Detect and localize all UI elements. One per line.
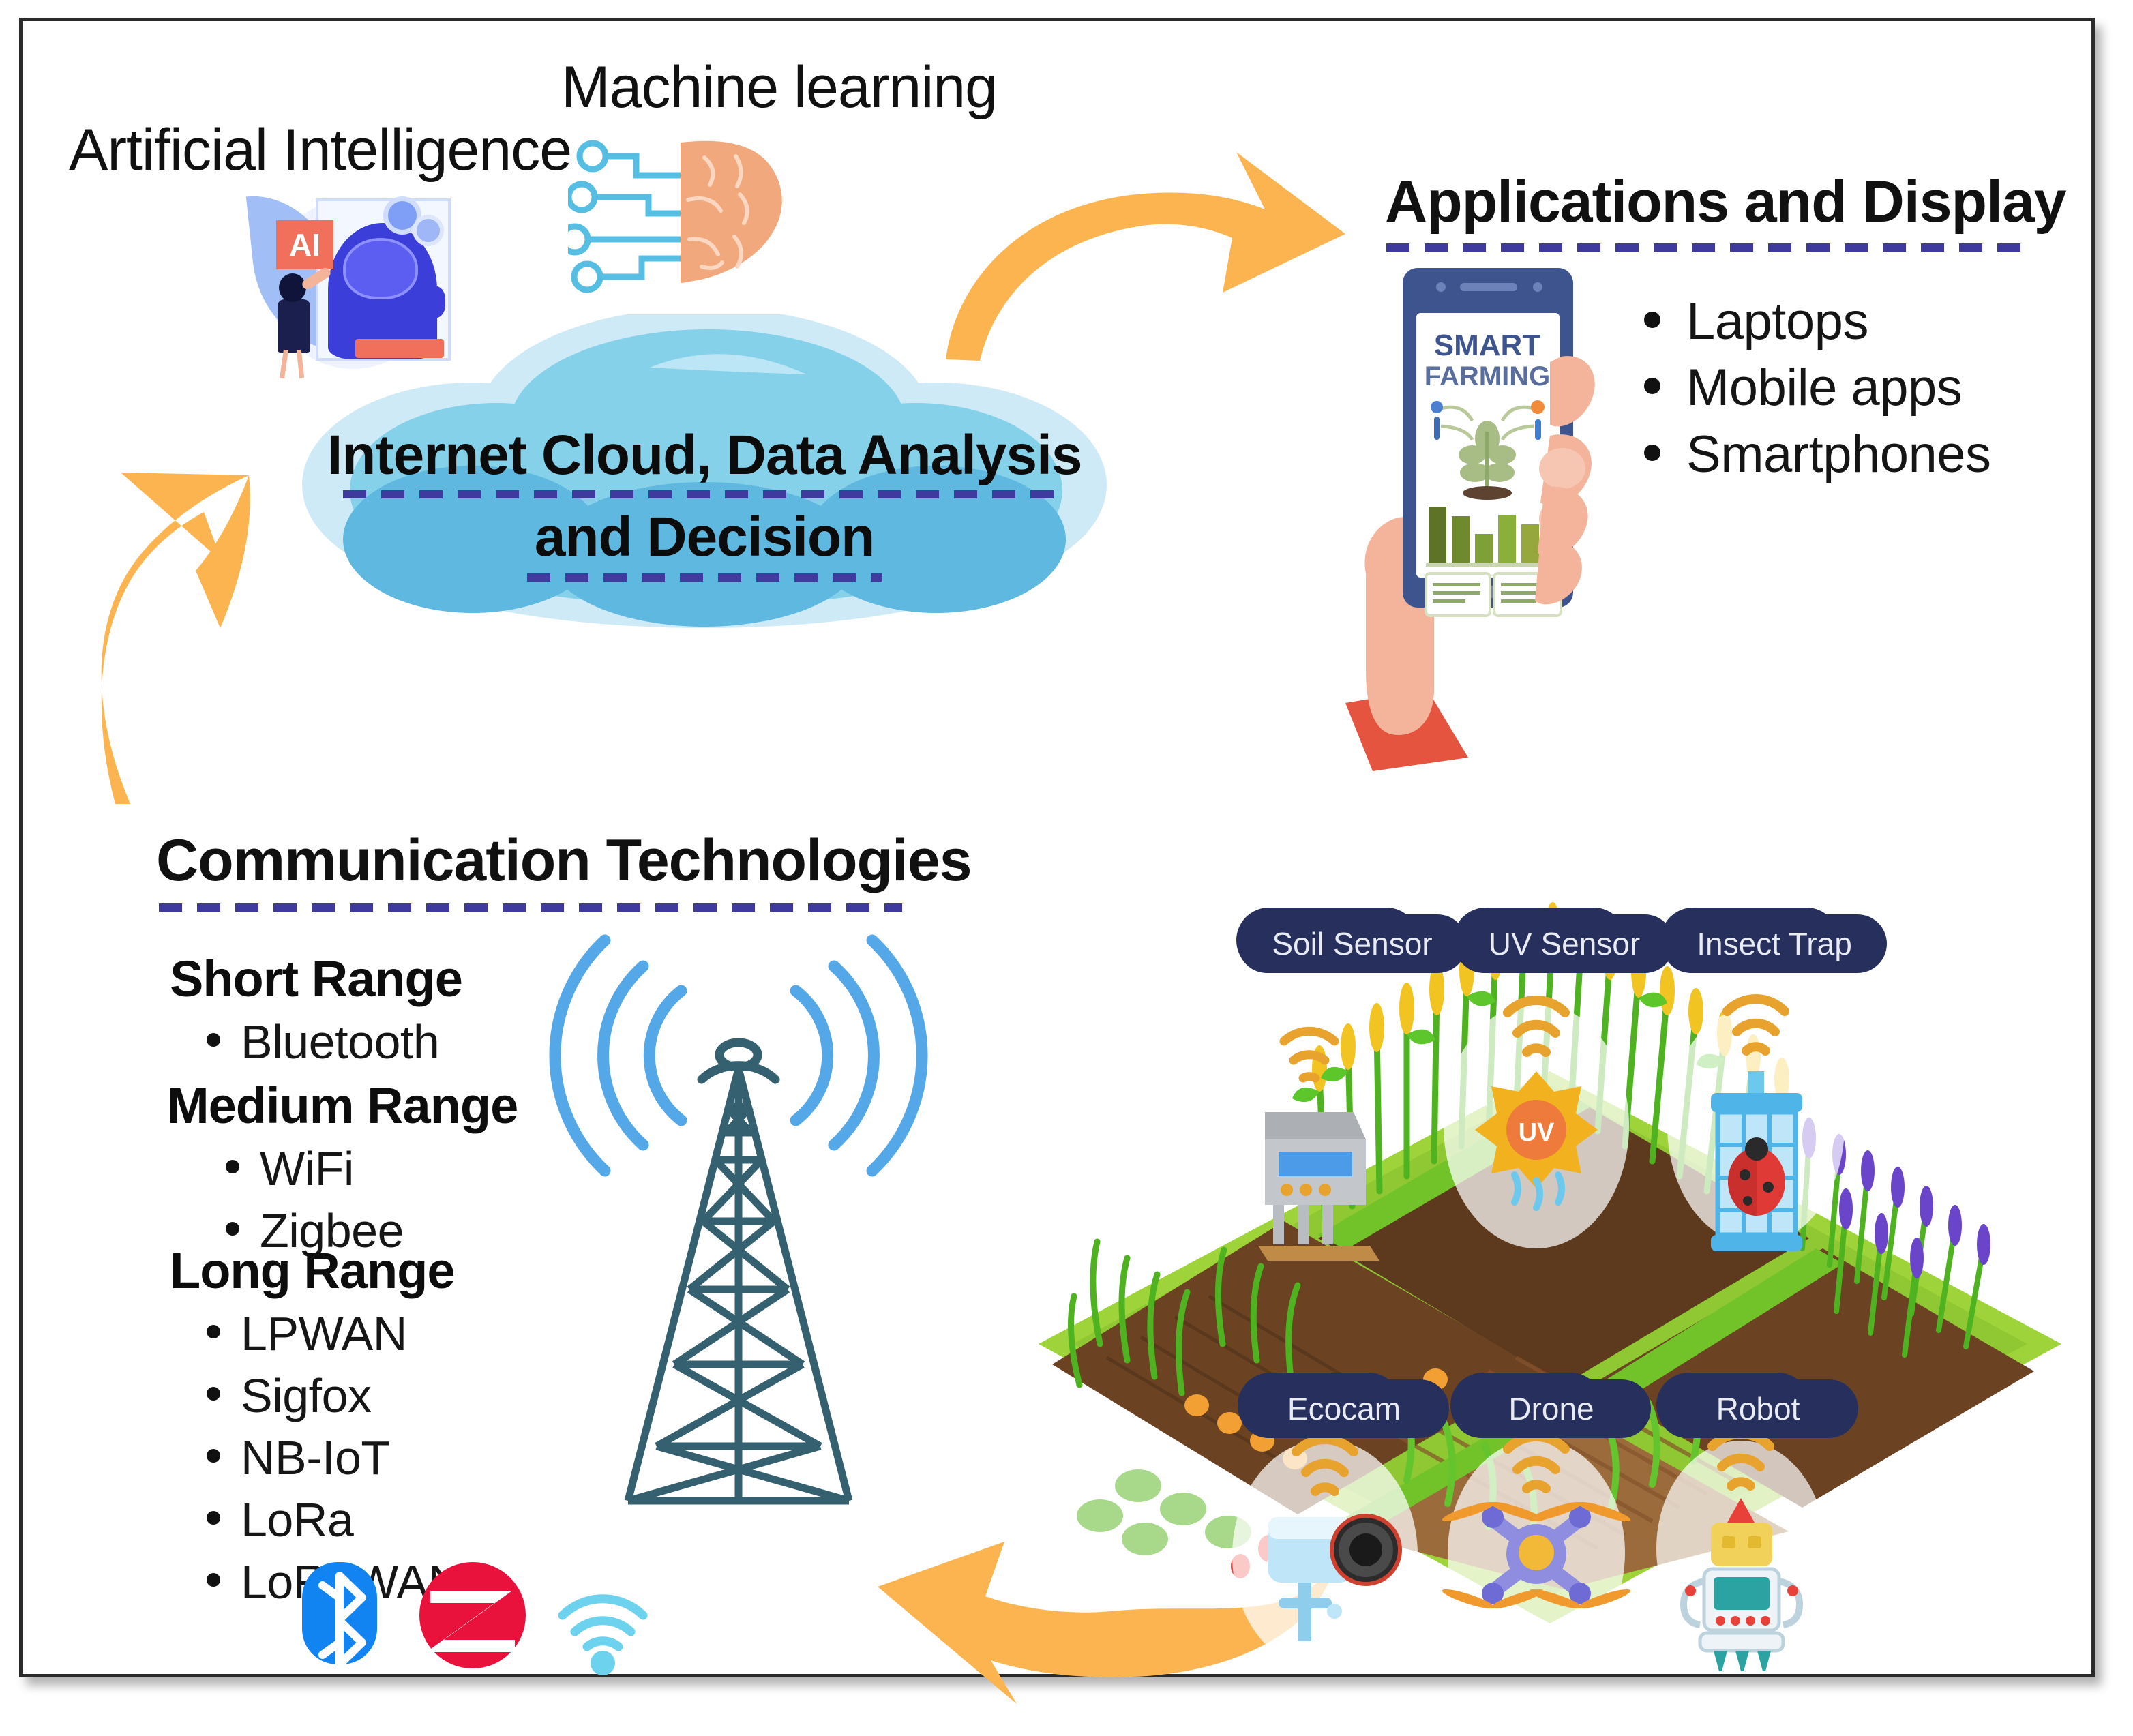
- machine-learning-label: Machine learning: [561, 54, 997, 121]
- brain-icon: [343, 238, 418, 299]
- cloud-caption: Internet Cloud, Data Analysis and Decisi…: [316, 423, 1093, 582]
- list-item: Smartphones: [1686, 421, 1991, 488]
- ecocam-bubble: [1232, 1439, 1418, 1671]
- list-item: NB-IoT: [241, 1427, 462, 1489]
- list-item: LoRa: [241, 1489, 462, 1551]
- chip-insect-trap-label: Insect Trap: [1662, 914, 1887, 973]
- protocol-logos: [295, 1555, 677, 1685]
- uv-badge-text: UV: [1519, 1118, 1555, 1147]
- machine-learning-brain-circuit-icon: [568, 137, 793, 294]
- wifi-dot-icon: [591, 1651, 615, 1675]
- gear-icon: [417, 219, 440, 242]
- zigbee-logo: [419, 1562, 526, 1668]
- chip-uv-sensor-label: UV Sensor: [1455, 914, 1674, 973]
- applications-list: Laptops Mobile apps Smartphones: [1686, 288, 1991, 488]
- cloud-caption-line2: and Decision: [316, 505, 1093, 569]
- long-range-heading: Long Range: [170, 1242, 455, 1300]
- list-item: WiFi: [260, 1138, 404, 1200]
- smartphone-in-hand-illustration: SMART FARMING: [1345, 253, 1700, 771]
- medium-range-heading: Medium Range: [167, 1077, 518, 1135]
- list-item: Bluetooth: [241, 1011, 439, 1073]
- chip-ecocam-label: Ecocam: [1239, 1379, 1449, 1438]
- communication-heading-underline: [159, 903, 902, 912]
- gear-icon: [388, 201, 417, 230]
- list-item: Laptops: [1686, 288, 1991, 355]
- cloud-caption-underline-1: [343, 490, 1066, 498]
- applications-heading: Applications and Display: [1385, 168, 2066, 236]
- svg-text:SMART: SMART: [1434, 329, 1541, 362]
- bluetooth-logo: [302, 1562, 377, 1664]
- arrow-cloud-to-applications: [929, 117, 1352, 365]
- chip-drone-label: Drone: [1452, 1379, 1651, 1438]
- list-item: Sigfox: [241, 1365, 462, 1427]
- communication-heading: Communication Technologies: [156, 827, 972, 895]
- svg-text:FARMING: FARMING: [1425, 361, 1550, 391]
- ai-badge: AI: [276, 220, 333, 269]
- applications-heading-underline: [1386, 243, 2026, 252]
- radio-tower-icon: [548, 928, 929, 1528]
- diagram-canvas: Artificial Intelligence Machine learning…: [0, 0, 2133, 1736]
- list-item: LPWAN: [241, 1303, 462, 1365]
- short-range-list: Bluetooth: [241, 1011, 439, 1073]
- short-range-heading: Short Range: [170, 950, 462, 1008]
- chip-robot-label: Robot: [1658, 1379, 1858, 1438]
- chip-soil-sensor-label: Soil Sensor: [1238, 914, 1467, 973]
- wifi-logo: [563, 1599, 643, 1647]
- arrow-communication-to-cloud: [50, 410, 295, 809]
- cloud-caption-line1: Internet Cloud, Data Analysis: [316, 423, 1093, 488]
- list-item: Mobile apps: [1686, 355, 1991, 421]
- cloud-caption-underline-2: [527, 573, 882, 582]
- diagram-frame: Artificial Intelligence Machine learning…: [19, 18, 2095, 1677]
- smart-farm-illustration: UV: [998, 867, 2109, 1671]
